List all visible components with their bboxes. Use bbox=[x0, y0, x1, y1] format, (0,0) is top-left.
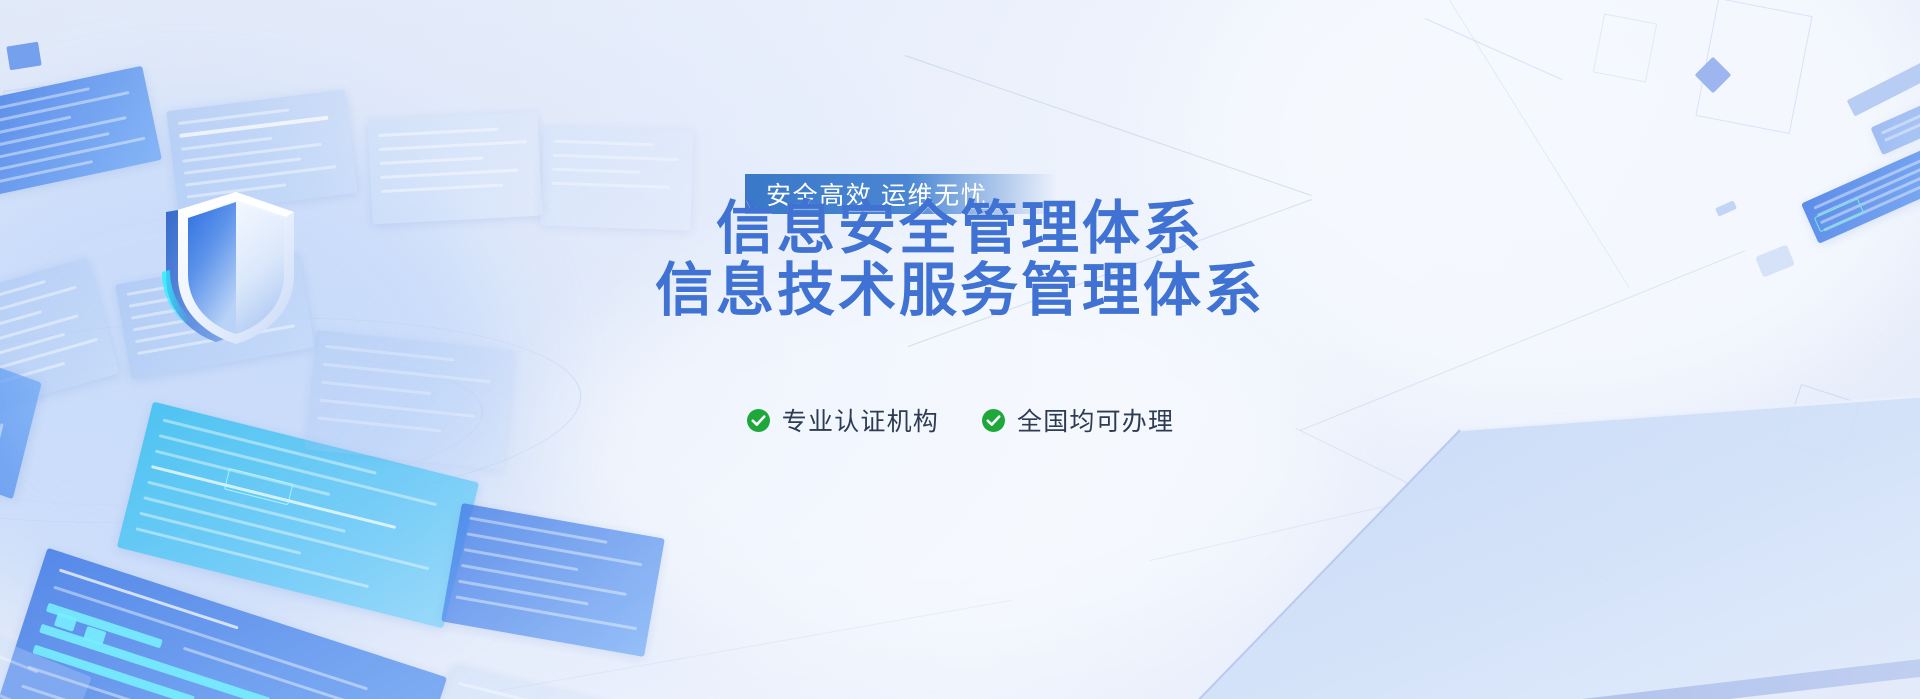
check-circle-svg bbox=[746, 408, 771, 433]
feature-item-nationwide: 全国均可办理 bbox=[981, 402, 1174, 438]
feature-label: 专业认证机构 bbox=[782, 402, 939, 438]
feature-list: 专业认证机构 全国均可办理 bbox=[0, 402, 1920, 438]
check-circle-icon bbox=[746, 408, 771, 433]
feature-label: 全国均可办理 bbox=[1017, 402, 1174, 438]
feature-item-certification: 专业认证机构 bbox=[746, 402, 939, 438]
banner-content: 安全高效 运维无忧 信息安全管理体系 信息技术服务管理体系 专业认证机构 bbox=[0, 0, 1920, 699]
check-circle-svg bbox=[981, 408, 1006, 433]
hero-banner: 安全高效 运维无忧 信息安全管理体系 信息技术服务管理体系 专业认证机构 bbox=[0, 0, 1920, 699]
headline-secondary: 信息技术服务管理体系 bbox=[0, 262, 1920, 320]
headline-primary: 信息安全管理体系 bbox=[0, 200, 1920, 258]
check-circle-icon bbox=[981, 408, 1006, 433]
